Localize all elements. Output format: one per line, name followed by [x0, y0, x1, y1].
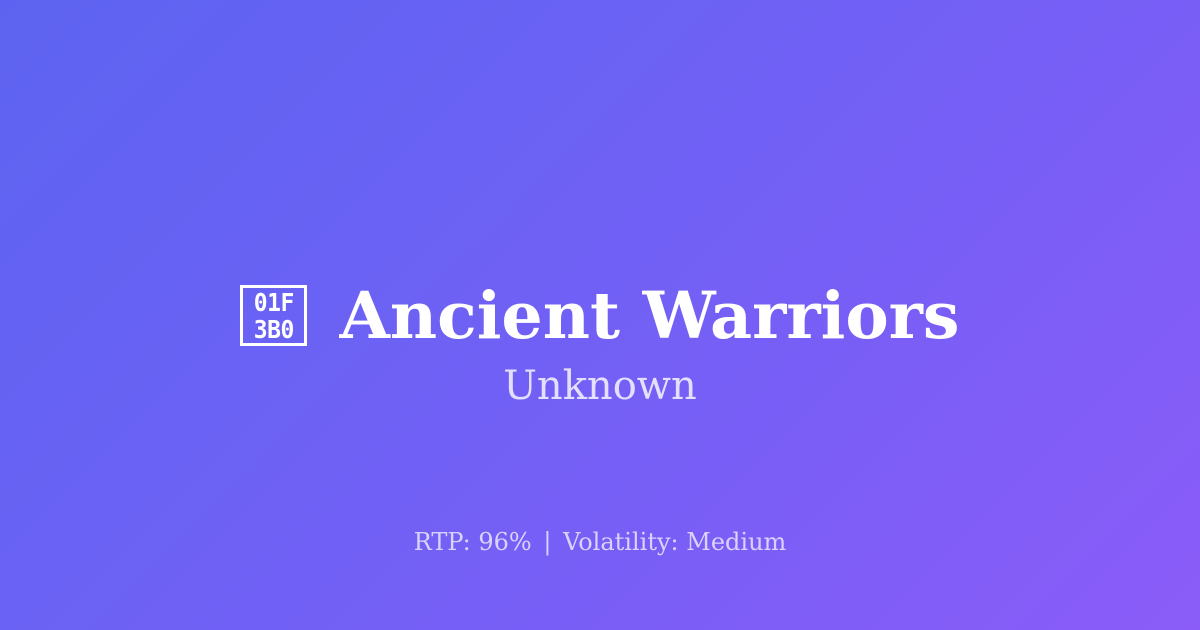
game-stats: RTP: 96% | Volatility: Medium — [0, 527, 1200, 557]
slot-machine-icon-codepoint-low: 3B0 — [254, 316, 294, 343]
slot-machine-icon: 01F 3B0 — [240, 285, 307, 346]
volatility-label: Volatility: — [563, 528, 679, 556]
stats-separator: | — [539, 528, 555, 556]
game-og-card: 01F 3B0 Ancient Warriors Unknown RTP: 96… — [0, 0, 1200, 630]
page-title: Ancient Warriors — [339, 280, 959, 352]
slot-machine-icon-codepoint-high: 01F — [254, 289, 294, 316]
rtp-label: RTP: — [414, 528, 471, 556]
volatility-value: Medium — [686, 528, 786, 556]
provider-name: Unknown — [0, 362, 1200, 410]
rtp-value: 96% — [478, 528, 531, 556]
